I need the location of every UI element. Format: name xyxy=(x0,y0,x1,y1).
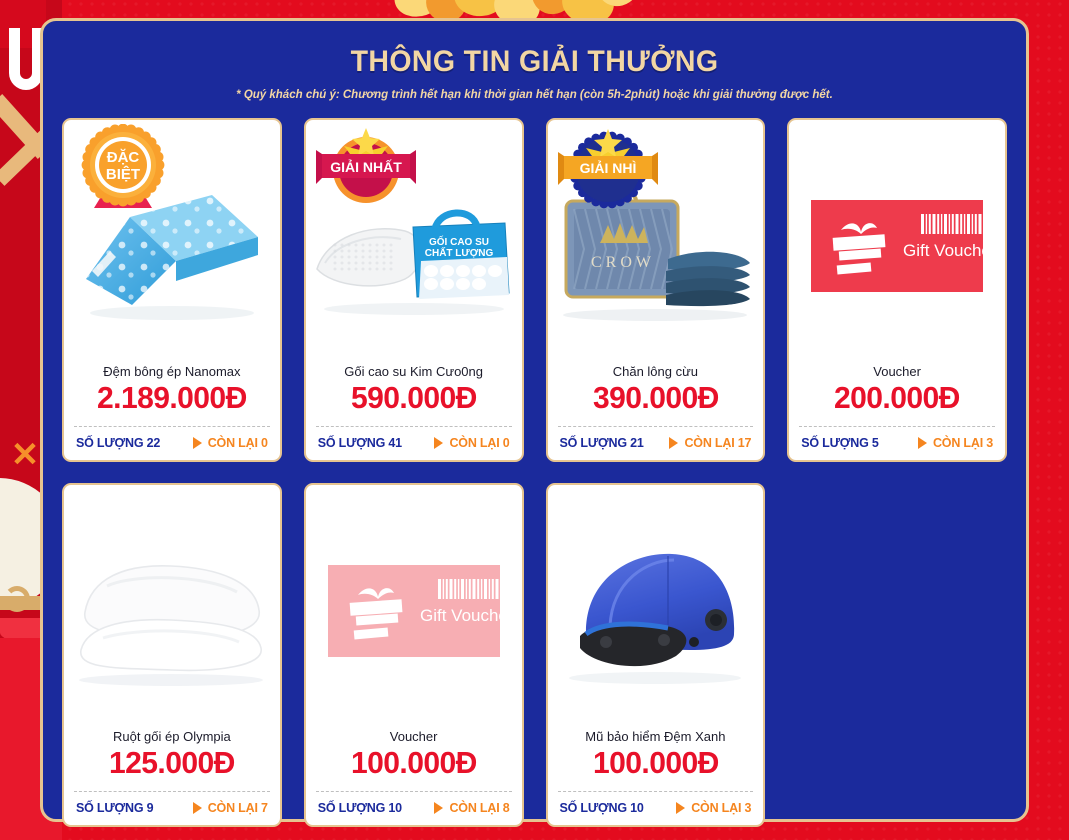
product-image-helmet xyxy=(550,516,760,706)
prize-price: 100.000Đ xyxy=(315,745,513,781)
play-triangle-icon xyxy=(193,437,202,449)
prize-stock-row: SỐ LƯỢNG 41 CÒN LẠI 0 xyxy=(316,426,512,460)
svg-text:GIẢI NHẤT: GIẢI NHẤT xyxy=(330,159,402,175)
prize-remaining-group[interactable]: CÒN LẠI 17 xyxy=(669,436,751,450)
prize-info-panel: THÔNG TIN GIẢI THƯỞNG * Quý khách chú ý:… xyxy=(40,18,1029,822)
prize-card[interactable]: Mũ bảo hiểm Đệm Xanh 100.000Đ SỐ LƯỢNG 1… xyxy=(546,483,766,827)
prize-remaining: CÒN LẠI 7 xyxy=(208,801,268,815)
svg-text:CHẤT LƯỢNG: CHẤT LƯỢNG xyxy=(424,246,493,259)
prize-grid: ĐẶC BIỆT xyxy=(62,118,1007,827)
page-note: * Quý khách chú ý: Chương trình hết hạn … xyxy=(62,89,1007,101)
prize-quantity: SỐ LƯỢNG 21 xyxy=(560,436,644,450)
svg-text:GỐI CAO SU: GỐI CAO SU xyxy=(429,234,489,248)
prize-price: 2.189.000Đ xyxy=(73,380,271,416)
prize-name: Voucher xyxy=(795,364,999,379)
prize-stock-row: SỐ LƯỢNG 10 CÒN LẠI 3 xyxy=(558,791,754,825)
prize-card[interactable]: Ruột gối ép Olympia 125.000Đ SỐ LƯỢNG 9 … xyxy=(62,483,282,827)
prize-stock-row: SỐ LƯỢNG 10 CÒN LẠI 8 xyxy=(316,791,512,825)
prize-card[interactable]: GIẢI NHẤT GỐI CAO SU CHẤT LƯỢNG Gối cao … xyxy=(304,118,524,462)
badge-dac-biet-icon: ĐẶC BIỆT xyxy=(72,124,176,212)
svg-text:GIẢI NHÌ: GIẢI NHÌ xyxy=(579,160,636,176)
prize-badge: GIẢI NHÌ xyxy=(556,124,660,212)
prize-stock-row: SỐ LƯỢNG 5 CÒN LẠI 3 xyxy=(799,426,995,460)
prize-stock-row: SỐ LƯỢNG 22 CÒN LẠI 0 xyxy=(74,426,270,460)
prize-name: Voucher xyxy=(312,729,516,744)
svg-text:BIỆT: BIỆT xyxy=(106,165,140,183)
prize-text: Đệm bông ép Nanomax 2.189.000Đ xyxy=(64,364,280,420)
prize-remaining-group[interactable]: CÒN LẠI 7 xyxy=(193,801,268,815)
prize-image xyxy=(548,485,764,729)
prize-card[interactable]: GIẢI NHÌ CROW Ch xyxy=(546,118,766,462)
prize-card[interactable]: ĐẶC BIỆT xyxy=(62,118,282,462)
prize-badge: ĐẶC BIỆT xyxy=(72,124,176,212)
svg-text:ĐẶC: ĐẶC xyxy=(107,149,140,166)
prize-price: 590.000Đ xyxy=(315,380,513,416)
prize-text: Chăn lông cừu 390.000Đ xyxy=(548,364,764,420)
prize-price: 100.000Đ xyxy=(557,745,755,781)
background-x-mark-icon: ✕ xyxy=(10,440,40,470)
prize-price: 125.000Đ xyxy=(73,745,271,781)
prize-text: Voucher 200.000Đ xyxy=(789,364,1005,420)
prize-image: Gift Vouchers xyxy=(789,120,1005,364)
prize-image: Gift Vouchers xyxy=(306,485,522,729)
page-title: THÔNG TIN GIẢI THƯỞNG xyxy=(86,45,984,79)
prize-quantity: SỐ LƯỢNG 9 xyxy=(76,801,153,815)
prize-remaining-group[interactable]: CÒN LẠI 0 xyxy=(434,436,509,450)
prize-card[interactable]: Gift Vouchers Voucher 100.000Đ SỐ LƯỢNG … xyxy=(304,483,524,827)
prize-name: Mũ bảo hiểm Đệm Xanh xyxy=(554,729,758,744)
prize-remaining: CÒN LẠI 0 xyxy=(449,436,509,450)
prize-image xyxy=(64,485,280,729)
prize-price: 390.000Đ xyxy=(557,380,755,416)
prize-quantity: SỐ LƯỢNG 10 xyxy=(560,801,644,815)
prize-remaining: CÒN LẠI 17 xyxy=(684,436,751,450)
prize-text: Voucher 100.000Đ xyxy=(306,729,522,785)
prize-text: Gối cao su Kim Cưo0ng 590.000Đ xyxy=(306,364,522,420)
prize-quantity: SỐ LƯỢNG 41 xyxy=(318,436,402,450)
play-triangle-icon xyxy=(434,802,443,814)
svg-text:Gift Vouchers: Gift Vouchers xyxy=(903,241,983,260)
prize-quantity: SỐ LƯỢNG 5 xyxy=(801,436,878,450)
product-image-gift-voucher: Gift Vouchers xyxy=(811,200,983,292)
prize-remaining-group[interactable]: CÒN LẠI 8 xyxy=(434,801,509,815)
prize-stock-row: SỐ LƯỢNG 21 CÒN LẠI 17 xyxy=(558,426,754,460)
prize-quantity: SỐ LƯỢNG 10 xyxy=(318,801,402,815)
prize-stock-row: SỐ LƯỢNG 9 CÒN LẠI 7 xyxy=(74,791,270,825)
svg-text:Gift Vouchers: Gift Vouchers xyxy=(420,606,500,625)
prize-remaining: CÒN LẠI 3 xyxy=(691,801,751,815)
play-triangle-icon xyxy=(434,437,443,449)
background-letter-u xyxy=(9,28,43,90)
play-triangle-icon xyxy=(193,802,202,814)
prize-remaining-group[interactable]: CÒN LẠI 0 xyxy=(193,436,268,450)
badge-giai-nhi-icon: GIẢI NHÌ xyxy=(556,124,660,212)
play-triangle-icon xyxy=(918,437,927,449)
background-gold-ring-icon xyxy=(4,586,30,612)
prize-name: Gối cao su Kim Cưo0ng xyxy=(312,364,516,379)
prize-remaining-group[interactable]: CÒN LẠI 3 xyxy=(918,436,993,450)
svg-text:CROW: CROW xyxy=(591,254,655,271)
play-triangle-icon xyxy=(676,802,685,814)
product-image-gift-voucher: Gift Vouchers xyxy=(328,565,500,657)
prize-name: Ruột gối ép Olympia xyxy=(70,729,274,744)
product-image-white-pillows xyxy=(67,516,277,706)
badge-giai-nhat-icon: GIẢI NHẤT xyxy=(314,124,418,212)
prize-remaining: CÒN LẠI 3 xyxy=(933,436,993,450)
prize-card[interactable]: Gift Vouchers Voucher 200.000Đ SỐ LƯỢNG … xyxy=(787,118,1007,462)
prize-remaining: CÒN LẠI 8 xyxy=(449,801,509,815)
prize-text: Mũ bảo hiểm Đệm Xanh 100.000Đ xyxy=(548,729,764,785)
prize-remaining-group[interactable]: CÒN LẠI 3 xyxy=(676,801,751,815)
play-triangle-icon xyxy=(669,437,678,449)
prize-name: Chăn lông cừu xyxy=(554,364,758,379)
festive-background: ✕ THÔNG TIN GIẢI THƯỞNG * Quý khách chú … xyxy=(0,0,1069,840)
prize-badge: GIẢI NHẤT xyxy=(314,124,418,212)
prize-price: 200.000Đ xyxy=(798,380,996,416)
prize-quantity: SỐ LƯỢNG 22 xyxy=(76,436,160,450)
prize-text: Ruột gối ép Olympia 125.000Đ xyxy=(64,729,280,785)
prize-name: Đệm bông ép Nanomax xyxy=(70,364,274,379)
prize-remaining: CÒN LẠI 0 xyxy=(208,436,268,450)
